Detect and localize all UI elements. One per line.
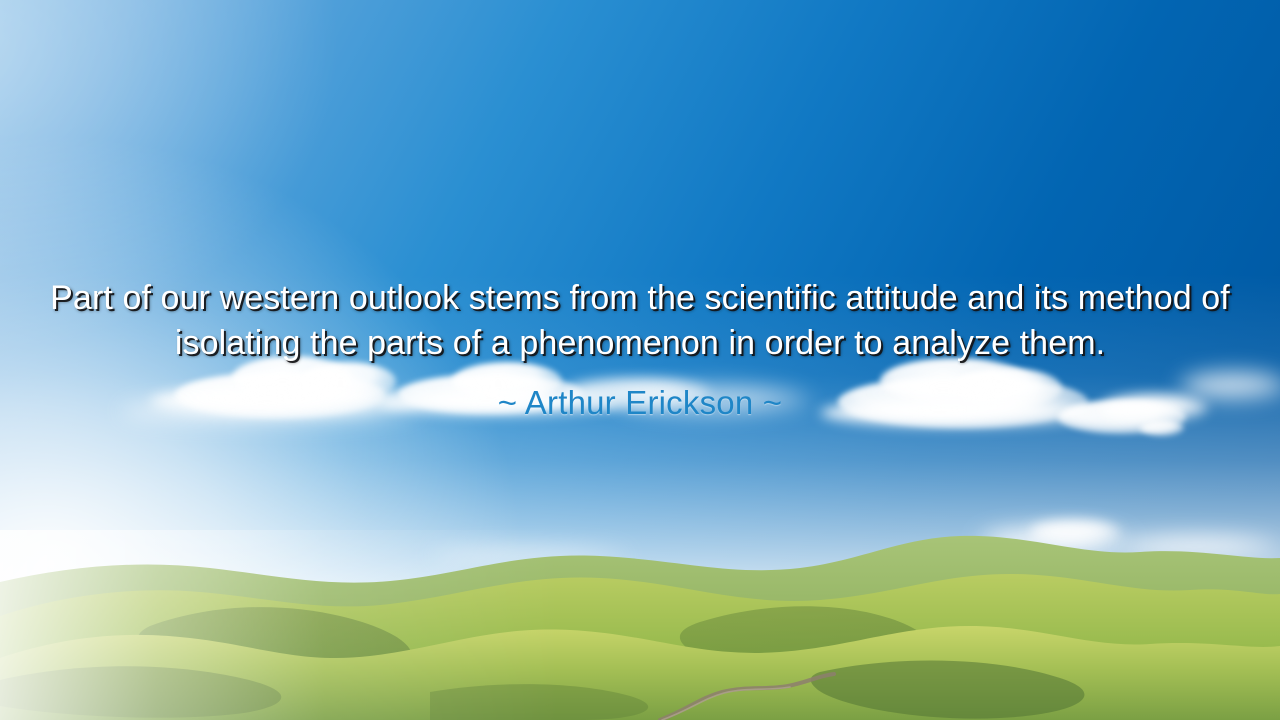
quote-image-canvas: Part of our western outlook stems from t… [0, 0, 1280, 720]
quote-author: ~ Arthur Erickson ~ [40, 366, 1240, 423]
hills-left-haze [0, 530, 560, 720]
hills-svg [0, 530, 1280, 720]
quote-block: Part of our western outlook stems from t… [0, 276, 1280, 423]
rolling-hills-landscape [0, 530, 1280, 720]
quote-text: Part of our western outlook stems from t… [40, 276, 1240, 366]
